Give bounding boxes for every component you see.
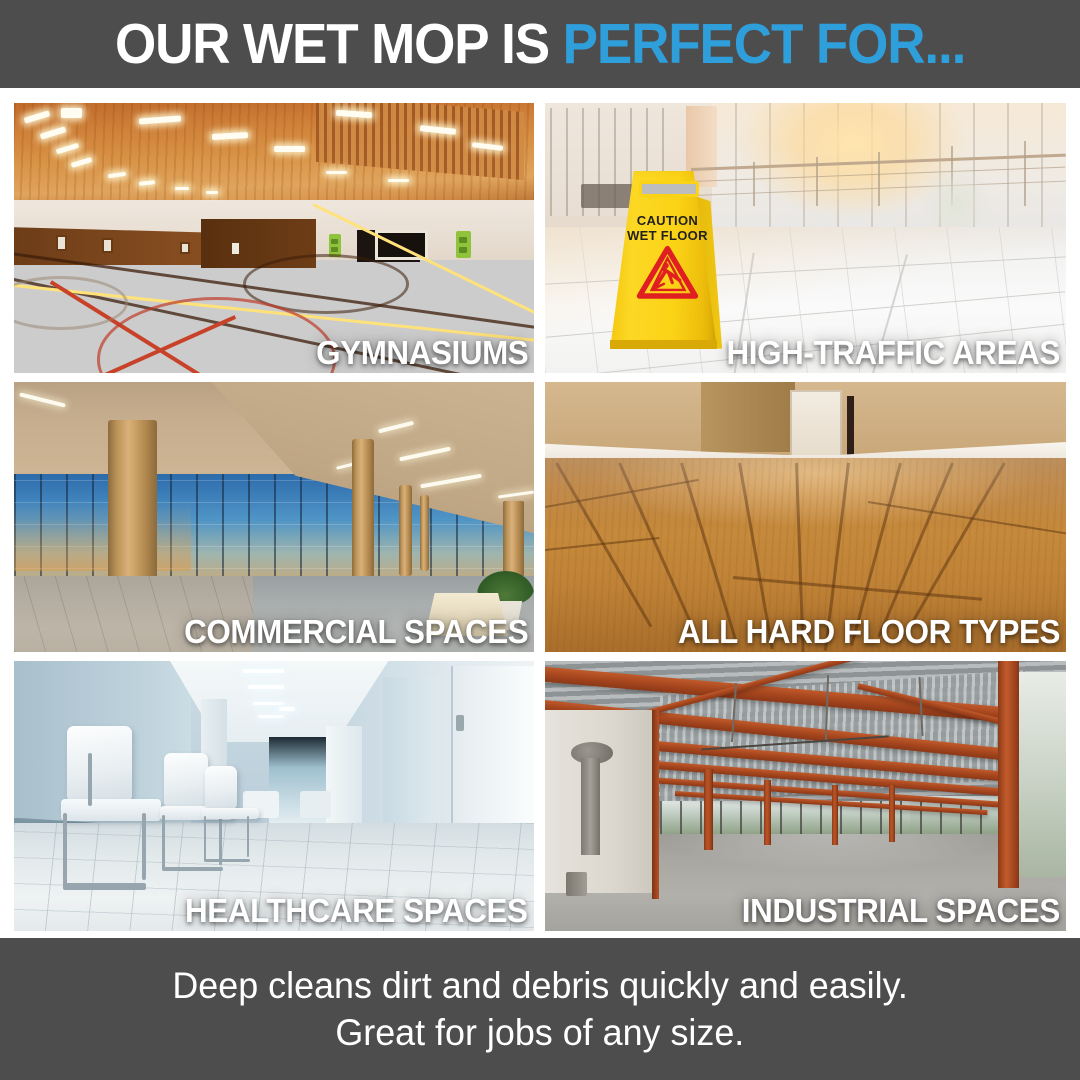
- sign-text-line-1: CAUTION: [602, 213, 732, 228]
- tile-label-all-hard-floor-types: ALL HARD FLOOR TYPES: [678, 615, 1060, 650]
- industrial-photo: [545, 661, 1066, 931]
- gymnasium-photo: [14, 103, 534, 373]
- tile-gymnasiums[interactable]: GYMNASIUMS: [14, 103, 534, 373]
- caution-wet-floor-sign: CAUTION WET FLOOR: [602, 171, 732, 349]
- tile-label-healthcare-spaces: HEALTHCARE SPACES: [186, 894, 528, 929]
- sign-text-line-2: WET FLOOR: [602, 228, 732, 243]
- tile-industrial-spaces[interactable]: INDUSTRIAL SPACES: [545, 661, 1066, 931]
- commercial-photo: [14, 382, 534, 652]
- tile-commercial-spaces[interactable]: COMMERCIAL SPACES: [14, 382, 534, 652]
- tile-healthcare-spaces[interactable]: HEALTHCARE SPACES: [14, 661, 534, 931]
- footer-banner: Deep cleans dirt and debris quickly and …: [0, 938, 1080, 1080]
- slip-hazard-icon: [631, 245, 704, 298]
- tile-high-traffic-areas[interactable]: CAUTION WET FLOOR HIGH-TRAFFIC AREAS: [545, 103, 1066, 373]
- feature-grid: GYMNASIUMS: [14, 103, 1066, 923]
- footer-line-2: Great for jobs of any size.: [336, 1009, 745, 1056]
- page-title: OUR WET MOP IS PERFECT FOR...: [115, 16, 965, 73]
- hardwood-floor-photo: [545, 382, 1066, 652]
- tile-all-hard-floor-types[interactable]: ALL HARD FLOOR TYPES: [545, 382, 1066, 652]
- tile-label-high-traffic-areas: HIGH-TRAFFIC AREAS: [727, 336, 1060, 371]
- page-title-part-2: PERFECT FOR...: [563, 12, 966, 76]
- header-banner: OUR WET MOP IS PERFECT FOR...: [0, 0, 1080, 88]
- tile-label-gymnasiums: GYMNASIUMS: [316, 336, 528, 371]
- high-traffic-photo: CAUTION WET FLOOR: [545, 103, 1066, 373]
- footer-line-1: Deep cleans dirt and debris quickly and …: [172, 962, 907, 1009]
- page-title-part-1: OUR WET MOP IS: [115, 12, 563, 76]
- tile-label-commercial-spaces: COMMERCIAL SPACES: [184, 615, 528, 650]
- tile-label-industrial-spaces: INDUSTRIAL SPACES: [742, 894, 1060, 929]
- healthcare-photo: [14, 661, 534, 931]
